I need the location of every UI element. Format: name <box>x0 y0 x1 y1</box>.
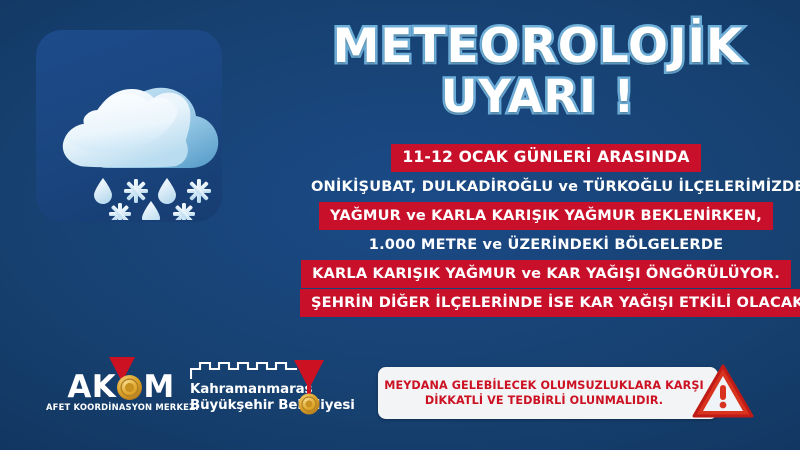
alert-line-2: DİKKATLİ VE TEDBİRLİ OLUNMALIDIR. <box>384 393 704 408</box>
precipitation-row-bottom <box>109 201 195 220</box>
akom-tagline: AFET KOORDİNASYON MERKEZİ <box>46 402 196 412</box>
castle-battlement-icon <box>190 360 298 380</box>
municipality-emblem-icon <box>290 358 328 416</box>
message-row: KARLA KARIŞIK YAĞMUR ve KAR YAĞIŞI ÖNGÖR… <box>300 260 792 288</box>
municipality-logo: Kahramanmaraş Büyükşehir Belediyesi <box>190 358 325 420</box>
message-line-4: 1.000 METRE ve ÜZERİNDEKİ BÖLGELERDE <box>358 231 734 259</box>
snowflake-icon <box>109 203 131 220</box>
message-row: 11-12 OCAK GÜNLERİ ARASINDA <box>300 144 792 172</box>
cloud-rain-snow-icon <box>36 40 222 220</box>
akom-wordmark: AK M <box>46 372 196 402</box>
raindrop-icon <box>158 178 176 204</box>
snowflake-icon <box>187 179 211 203</box>
message-line-6: ŞEHRİN DİĞER İLÇELERİNDE İSE KAR YAĞIŞI … <box>300 289 800 317</box>
akom-letters-left: AK <box>67 372 116 403</box>
meteorological-warning-poster: METEOROLOJİK UYARI ! 11-12 OCAK GÜNLERİ … <box>0 0 800 450</box>
title-line-2: UYARI ! <box>288 72 788 122</box>
precipitation-row-top <box>94 178 211 204</box>
message-row: ŞEHRİN DİĞER İLÇELERİNDE İSE KAR YAĞIŞI … <box>300 289 792 317</box>
raindrop-icon <box>142 201 160 220</box>
message-row: ONİKİŞUBAT, DULKADİROĞLU ve TÜRKOĞLU İLÇ… <box>300 173 792 201</box>
title-line-1: METEOROLOJİK <box>288 22 788 72</box>
akom-medal-icon <box>116 374 143 401</box>
poster-title: METEOROLOJİK UYARI ! <box>288 22 788 122</box>
snowflake-icon <box>124 179 148 203</box>
message-line-5: KARLA KARIŞIK YAĞMUR ve KAR YAĞIŞI ÖNGÖR… <box>301 260 791 288</box>
municipality-line-2: Büyükşehir Belediyesi <box>190 398 302 414</box>
cloud-shape <box>63 88 218 168</box>
alert-text: MEYDANA GELEBİLECEK OLUMSUZLUKLARA KARŞI… <box>378 378 718 408</box>
precaution-alert-bar: MEYDANA GELEBİLECEK OLUMSUZLUKLARA KARŞI… <box>378 367 718 419</box>
message-line-1: 11-12 OCAK GÜNLERİ ARASINDA <box>391 144 700 172</box>
municipality-line-1: Kahramanmaraş <box>190 382 302 398</box>
warning-triangle-icon <box>692 363 754 421</box>
message-line-2: ONİKİŞUBAT, DULKADİROĞLU ve TÜRKOĞLU İLÇ… <box>300 173 800 201</box>
warning-message-block: 11-12 OCAK GÜNLERİ ARASINDA ONİKİŞUBAT, … <box>300 144 792 318</box>
snowflake-icon <box>173 203 195 220</box>
municipality-name: Kahramanmaraş Büyükşehir Belediyesi <box>190 382 302 414</box>
message-line-3: YAĞMUR ve KARLA KARIŞIK YAĞMUR BEKLENİRK… <box>319 202 773 230</box>
raindrop-icon <box>94 178 112 204</box>
message-row: 1.000 METRE ve ÜZERİNDEKİ BÖLGELERDE <box>300 231 792 259</box>
akom-logo: AK M AFET KOORDİNASYON MERK <box>46 356 196 418</box>
message-row: YAĞMUR ve KARLA KARIŞIK YAĞMUR BEKLENİRK… <box>300 202 792 230</box>
akom-letters-right: M <box>143 372 174 403</box>
alert-line-1: MEYDANA GELEBİLECEK OLUMSUZLUKLARA KARŞI <box>384 378 704 393</box>
